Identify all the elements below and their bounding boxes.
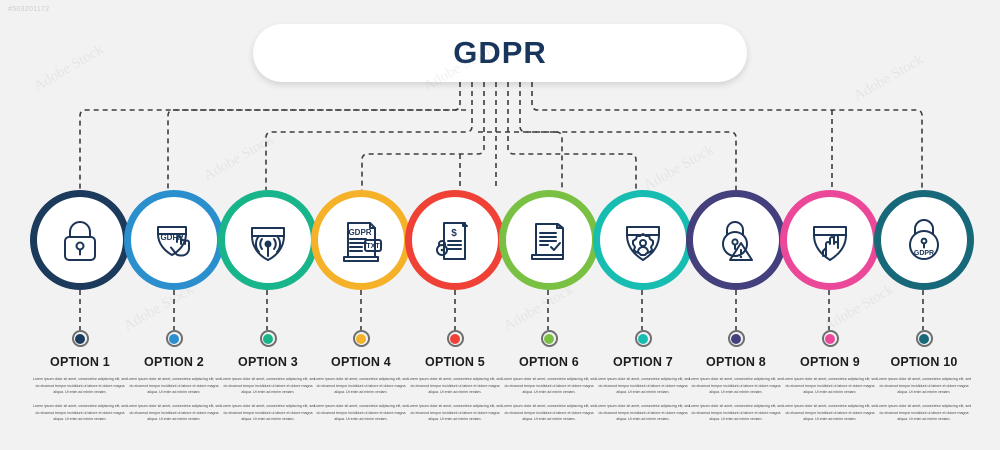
- option-paragraph-4b: Lorem ipsum dolor sit amet, consectetur …: [313, 403, 410, 423]
- option-paragraph-2a: Lorem ipsum dolor sit amet, consectetur …: [126, 376, 223, 396]
- gdpr-padlock-icon: GDPR: [898, 214, 950, 266]
- option-label-2: OPTION 2: [124, 355, 224, 369]
- option-column-8: OPTION 8 Lorem ipsum dolor sit amet, con…: [686, 330, 786, 423]
- option-column-2: OPTION 2 Lorem ipsum dolor sit amet, con…: [124, 330, 224, 423]
- option-paragraph-1a: Lorem ipsum dolor sit amet, consectetur …: [32, 376, 129, 396]
- marker-dot-6: [541, 330, 558, 347]
- option-paragraph-10b: Lorem ipsum dolor sit amet, consectetur …: [876, 403, 973, 423]
- option-paragraph-10a: Lorem ipsum dolor sit amet, consectetur …: [876, 376, 973, 396]
- option-column-5: OPTION 5 Lorem ipsum dolor sit amet, con…: [405, 330, 505, 423]
- option-paragraph-5a: Lorem ipsum dolor sit amet, consectetur …: [407, 376, 504, 396]
- marker-dot-7: [635, 330, 652, 347]
- option-paragraph-3a: Lorem ipsum dolor sit amet, consectetur …: [220, 376, 317, 396]
- option-column-3: OPTION 3 Lorem ipsum dolor sit amet, con…: [218, 330, 318, 423]
- option-label-9: OPTION 9: [780, 355, 880, 369]
- infographic-root: #503201172 GDPR: [0, 0, 1000, 450]
- option-column-7: OPTION 7 Lorem ipsum dolor sit amet, con…: [593, 330, 693, 423]
- marker-dot-10: [916, 330, 933, 347]
- option-circle-10[interactable]: GDPR: [874, 190, 974, 290]
- option-label-8: OPTION 8: [686, 355, 786, 369]
- option-column-10: OPTION 10 Lorem ipsum dolor sit amet, co…: [874, 330, 974, 423]
- option-label-1: OPTION 1: [30, 355, 130, 369]
- dollar-text: $: [451, 228, 457, 239]
- doc-gdpr-text: GDPR: [348, 228, 371, 237]
- stock-id-watermark: #503201172: [8, 6, 49, 13]
- title-pill: GDPR: [253, 24, 747, 82]
- watermark-text: Adobe Stock: [201, 132, 277, 186]
- option-paragraph-3b: Lorem ipsum dolor sit amet, consectetur …: [220, 403, 317, 423]
- option-paragraph-2b: Lorem ipsum dolor sit amet, consectetur …: [126, 403, 223, 423]
- txt-badge-text: TXT: [366, 243, 380, 250]
- marker-dot-3: [260, 330, 277, 347]
- icon-circle-row: GDPR GDPR TXT: [0, 190, 1000, 290]
- option-circle-6[interactable]: [499, 190, 599, 290]
- gdpr-txt-document-icon: GDPR TXT: [335, 213, 387, 267]
- watermark-text: Adobe Stock: [31, 42, 107, 96]
- marker-dot-4: [353, 330, 370, 347]
- option-circle-2[interactable]: GDPR: [124, 190, 224, 290]
- gdpr-shield-click-icon: GDPR: [147, 213, 201, 267]
- secure-invoice-icon: $: [429, 214, 481, 266]
- option-circle-9[interactable]: [780, 190, 880, 290]
- option-paragraph-6a: Lorem ipsum dolor sit amet, consectetur …: [501, 376, 598, 396]
- watermark-text: Adobe Stock: [641, 142, 717, 196]
- option-column-4: OPTION 4 Lorem ipsum dolor sit amet, con…: [311, 330, 411, 423]
- shield-hand-icon: [804, 214, 856, 266]
- option-label-6: OPTION 6: [499, 355, 599, 369]
- approved-document-icon: [523, 214, 575, 266]
- option-paragraph-8a: Lorem ipsum dolor sit amet, consectetur …: [688, 376, 785, 396]
- marker-dot-9: [822, 330, 839, 347]
- watermark-text: Adobe Stock: [851, 52, 927, 106]
- option-circle-7[interactable]: [593, 190, 693, 290]
- option-label-10: OPTION 10: [874, 355, 974, 369]
- lock-gdpr-text: GDPR: [914, 250, 934, 257]
- option-paragraph-7b: Lorem ipsum dolor sit amet, consectetur …: [595, 403, 692, 423]
- marker-dot-1: [72, 330, 89, 347]
- option-paragraph-5b: Lorem ipsum dolor sit amet, consectetur …: [407, 403, 504, 423]
- option-paragraph-1b: Lorem ipsum dolor sit amet, consectetur …: [32, 403, 129, 423]
- option-column-9: OPTION 9 Lorem ipsum dolor sit amet, con…: [780, 330, 880, 423]
- marker-dot-2: [166, 330, 183, 347]
- connector-bottom-stems: [80, 290, 923, 330]
- option-circle-8[interactable]: [686, 190, 786, 290]
- shield-gear-user-icon: [617, 214, 669, 266]
- option-paragraph-7a: Lorem ipsum dolor sit amet, consectetur …: [595, 376, 692, 396]
- option-paragraph-9b: Lorem ipsum dolor sit amet, consectetur …: [782, 403, 879, 423]
- marker-dot-8: [728, 330, 745, 347]
- shield-signal-icon: [242, 214, 294, 266]
- option-label-7: OPTION 7: [593, 355, 693, 369]
- option-label-4: OPTION 4: [311, 355, 411, 369]
- connector-top-branches: [80, 82, 922, 190]
- page-title: GDPR: [453, 35, 547, 71]
- marker-dot-5: [447, 330, 464, 347]
- option-label-3: OPTION 3: [218, 355, 318, 369]
- option-circle-1[interactable]: [30, 190, 130, 290]
- option-label-5: OPTION 5: [405, 355, 505, 369]
- option-paragraph-6b: Lorem ipsum dolor sit amet, consectetur …: [501, 403, 598, 423]
- padlock-warning-icon: [710, 214, 762, 266]
- option-paragraph-9a: Lorem ipsum dolor sit amet, consectetur …: [782, 376, 879, 396]
- option-column-1: OPTION 1 Lorem ipsum dolor sit amet, con…: [30, 330, 130, 423]
- option-paragraph-4a: Lorem ipsum dolor sit amet, consectetur …: [313, 376, 410, 396]
- option-circle-5[interactable]: $: [405, 190, 505, 290]
- option-circle-3[interactable]: [218, 190, 318, 290]
- option-circle-4[interactable]: GDPR TXT: [311, 190, 411, 290]
- option-column-6: OPTION 6 Lorem ipsum dolor sit amet, con…: [499, 330, 599, 423]
- padlock-icon: [54, 214, 106, 266]
- option-paragraph-8b: Lorem ipsum dolor sit amet, consectetur …: [688, 403, 785, 423]
